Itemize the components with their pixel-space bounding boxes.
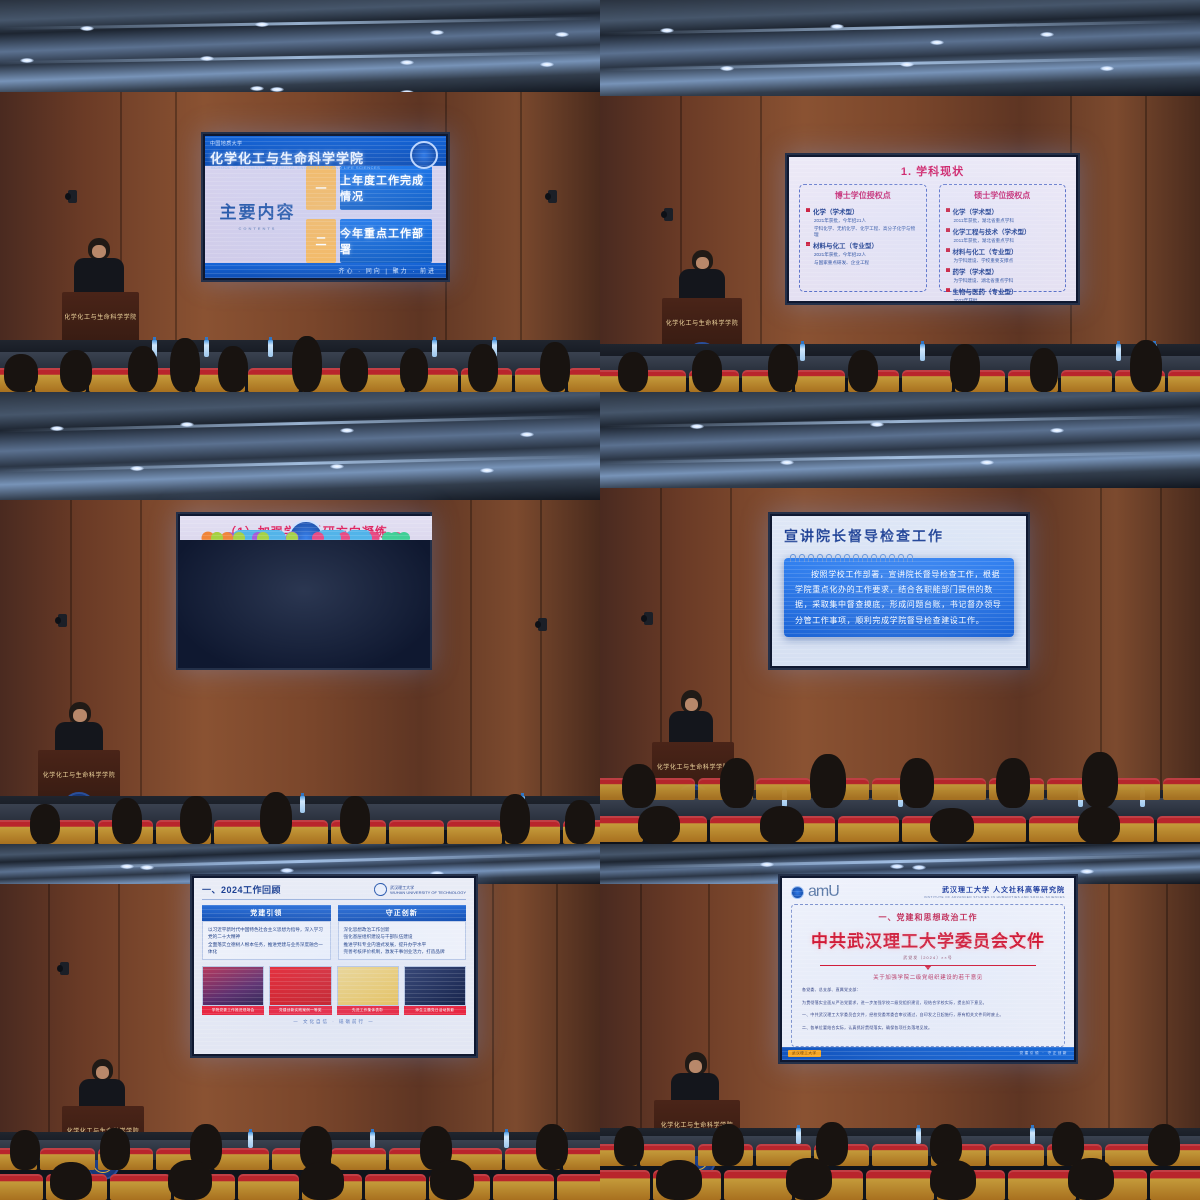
lead-title-text: 主要内容: [219, 203, 295, 222]
item-note: 为学科建设、湖北省重点学科: [954, 278, 1060, 284]
audience-head: [168, 1160, 212, 1200]
photo-thumbnail: [269, 966, 331, 1006]
photo-item: 师生主题党日活动剪影: [404, 966, 466, 1015]
audience-head: [100, 1128, 130, 1170]
photo-caption: 学院党委工作推进现场会: [202, 1006, 264, 1015]
diagram-node: [398, 532, 410, 540]
slide-photo-strip: 学院党委工作推进现场会 党建创新实践案例一等奖 先进工作集体表彰 师生主题党日活…: [202, 966, 466, 1015]
audience-head: [300, 1162, 344, 1200]
item-note: 学科化学、无机化学、化学工程、高分子化学与物理: [814, 226, 920, 238]
water-bottle: [432, 340, 437, 357]
agenda-item: 二 今年重点工作部署: [306, 219, 432, 263]
university-crest-icon: [410, 141, 438, 169]
collage-panel-4: 宣讲院长督导检查工作 按照学校工作部署，宣讲院长督导检查工作，根据学院重点化办的…: [600, 392, 1200, 844]
audience-head: [260, 792, 292, 844]
item-label: 化学（学术型）: [953, 206, 999, 216]
slide-header: 一、2024工作回顾 武汉理工大学 WUHAN UNIVERSITY OF TE…: [202, 883, 466, 900]
audience-head: [622, 764, 656, 808]
document-number: 武党发〔2024〕××号: [802, 955, 1054, 961]
audience-head: [430, 1160, 474, 1200]
item-label: 化学（学术型）: [813, 206, 859, 216]
audience-head: [712, 1124, 744, 1166]
photo-caption: 先进工作集体表彰: [337, 1006, 399, 1015]
box-list-item: 深化思想政治工作创新: [344, 926, 461, 933]
audience-head: [1082, 752, 1118, 808]
audience-head: [50, 1162, 92, 1200]
box-list-item: 以习近平新时代中国特色社会主义思想为指导，深入学习党的二十大精神: [208, 926, 325, 941]
water-bottle: [370, 1132, 375, 1148]
item-note: 与国家重点研发、企业工程: [814, 260, 920, 266]
projection-screen-6: amU 武汉理工大学 人文社科高等研究院 INSTITUTE OF ADVANC…: [778, 874, 1078, 1064]
audience-head: [565, 800, 595, 844]
audience-head: [930, 808, 974, 844]
slide-column-master: 硕士学位授权点 化学（学术型） 2011年获批，湖北省重点学科 化学工程与技术（…: [939, 184, 1067, 292]
agenda-label: 今年重点工作部署: [340, 219, 432, 263]
slide-4: 宣讲院长督导检查工作 按照学校工作部署，宣讲院长督导检查工作，根据学院重点化办的…: [772, 516, 1026, 666]
audience-head: [400, 348, 428, 392]
audience-head: [340, 348, 368, 392]
spotlight-icon: [538, 618, 547, 631]
brand-line-2: INSTITUTE OF ADVANCED STUDIES IN HUMANIT…: [924, 895, 1065, 899]
water-bottle: [800, 344, 805, 361]
collage-panel-2: 1. 学科现状 博士学位授权点 化学（学术型） 2021年获批，今年招21人 学…: [600, 0, 1200, 392]
box-list-item: 完善考核评价机制，激发干事创业活力，打造品牌: [344, 948, 461, 955]
diagram-node: [286, 532, 298, 540]
spotlight-icon: [664, 208, 673, 221]
audience-head: [60, 350, 92, 392]
slide-header-subtitle: SCHOOL OF CHEMISTRY, CHEMICAL ENGINEERIN…: [211, 165, 380, 170]
item-label: 药学（学术型）: [953, 266, 999, 276]
audience-head: [638, 806, 680, 844]
audience-head: [128, 346, 158, 392]
photo-item: 学院党委工作推进现场会: [202, 966, 264, 1015]
audience-head: [614, 1126, 644, 1166]
slide-footer-text: 齐心 · 同向 | 聚力 · 前进: [338, 266, 436, 275]
brand-text: 武汉理工大学 WUHAN UNIVERSITY OF TECHNOLOGY: [390, 885, 466, 895]
item-label: 材料与化工（专业型）: [953, 246, 1018, 256]
spotlight-icon: [68, 190, 77, 203]
collage-panel-5: 一、2024工作回顾 武汉理工大学 WUHAN UNIVERSITY OF TE…: [0, 844, 600, 1200]
brand-block: 武汉理工大学 人文社科高等研究院 INSTITUTE OF ADVANCED S…: [924, 885, 1065, 899]
audience-head: [10, 1130, 40, 1170]
audience-head: [720, 758, 754, 808]
audience-head: [996, 758, 1030, 808]
audience-head: [170, 338, 200, 392]
box-innovation: 守正创新 深化思想政治工作创新 强化基层组织建设与干部队伍建设 推进学科专业内涵…: [338, 905, 467, 960]
document-paragraph: 二、各单位要结合实际，认真抓好贯彻落实，确保各项任务落地见效。: [802, 1024, 1054, 1032]
audience-head: [760, 806, 804, 844]
audience-head: [848, 350, 878, 392]
list-item: 化学（学术型）: [806, 206, 920, 216]
audience-head: [4, 354, 38, 392]
item-note: 2023年获批: [954, 298, 1060, 301]
diagram-node: [233, 532, 245, 540]
photo-caption: 师生主题党日活动剪影: [404, 1006, 466, 1015]
photo-thumbnail: [404, 966, 466, 1006]
slide-header: amU 武汉理工大学 人文社科高等研究院 INSTITUTE OF ADVANC…: [782, 878, 1074, 904]
document-rule: [820, 965, 1036, 966]
slide-boxes: 党建引领 以习近平新时代中国特色社会主义思想为指导，深入学习党的二十大精神 全面…: [202, 905, 466, 960]
audience-head: [500, 794, 530, 844]
lead-subtitle-text: CONTENTS: [219, 226, 295, 231]
list-item: 药学（学术型）: [946, 266, 1060, 276]
audience-head: [30, 804, 60, 844]
item-label: 生物与医药（专业型）: [953, 286, 1018, 296]
audience-head: [618, 352, 648, 392]
audience-seat-row: [600, 370, 1200, 392]
diagram-node: [257, 532, 269, 540]
audience-head: [1030, 348, 1058, 392]
water-bottle: [796, 1128, 801, 1144]
item-note: 2021年获批，今年招22人: [814, 252, 920, 258]
audience-head: [810, 754, 846, 808]
diagram-node: [329, 532, 341, 540]
document-subject: 关于加强学院二级党组织建设的若干意见: [802, 973, 1054, 981]
slide-title: 一、2024工作回顾: [202, 883, 281, 896]
item-note: 为学科建设、学校重要支撑点: [954, 258, 1060, 264]
ceiling: [600, 392, 1200, 488]
box-heading: 守正创新: [338, 905, 467, 921]
diagram-node: [360, 532, 372, 540]
slide-column-doctoral: 博士学位授权点 化学（学术型） 2021年获批，今年招21人 学科化学、无机化学…: [799, 184, 927, 292]
document-paragraph: 各党委、总支部、直属党支部：: [802, 986, 1054, 994]
audience-head: [950, 344, 980, 392]
watermark-text: amU: [808, 883, 839, 901]
item-label: 化学工程与技术（学术型）: [953, 226, 1031, 236]
water-bottle: [920, 344, 925, 361]
photo-caption: 党建创新实践案例一等奖: [269, 1006, 331, 1015]
university-crest-icon: [374, 883, 387, 896]
brand-line-2: WUHAN UNIVERSITY OF TECHNOLOGY: [390, 890, 466, 895]
item-label: 材料与化工（专业型）: [813, 240, 878, 250]
document-section-title: 一、党建和思想政治工作: [802, 912, 1054, 923]
slide-3: （1）加强学院科研方向凝练: [180, 516, 432, 540]
agenda-label: 上年度工作完成情况: [340, 166, 432, 210]
audience-head: [930, 1160, 976, 1200]
diagram-node: [312, 532, 324, 540]
audience-head: [540, 342, 570, 392]
box-body: 深化思想政治工作创新 强化基层组织建设与干部队伍建设 推进学科专业内涵式发展，提…: [338, 921, 467, 960]
footer-right-text: 党建引领 · 守正创新: [1020, 1051, 1068, 1056]
slide-footer-bar: 武汉理工大学 党建引领 · 守正创新: [782, 1047, 1074, 1060]
photo-collage: 中国地质大学 化学化工与生命科学学院 SCHOOL OF CHEMISTRY, …: [0, 0, 1200, 1200]
ceiling: [0, 0, 600, 92]
audience-head: [692, 350, 722, 392]
audience-head: [112, 798, 142, 844]
podium-nameplate: 化学化工与生命科学学院: [665, 315, 739, 329]
agenda-list: 一 上年度工作完成情况 二 今年重点工作部署: [306, 166, 432, 263]
podium-nameplate: 化学化工与生命科学学院: [65, 310, 136, 324]
water-bottle: [504, 1132, 509, 1148]
spotlight-icon: [58, 614, 67, 627]
slide-body-text: 按照学校工作部署，宣讲院长督导检查工作，根据学院重点化办的工作要求，结合各职能部…: [784, 558, 1014, 637]
list-item: 材料与化工（专业型）: [946, 246, 1060, 256]
footer-tag: 武汉理工大学: [788, 1050, 821, 1057]
podium-nameplate: 化学化工与生命科学学院: [655, 760, 730, 774]
agenda-number: 一: [306, 166, 336, 210]
diagram-node: [211, 532, 223, 540]
slide-columns: 博士学位授权点 化学（学术型） 2021年获批，今年招21人 学科化学、无机化学…: [799, 184, 1066, 292]
slide-1: 中国地质大学 化学化工与生命科学学院 SCHOOL OF CHEMISTRY, …: [205, 136, 446, 278]
brand-block: 武汉理工大学 WUHAN UNIVERSITY OF TECHNOLOGY: [374, 883, 466, 896]
projection-screen-1: 中国地质大学 化学化工与生命科学学院 SCHOOL OF CHEMISTRY, …: [201, 132, 450, 282]
item-note: 2011年获批，湖北省重点学科: [954, 218, 1060, 224]
water-bottle: [300, 796, 305, 813]
box-heading: 党建引领: [202, 905, 331, 921]
audience-head: [1130, 340, 1162, 392]
spotlight-icon: [548, 190, 557, 203]
box-list-item: 推进学科专业内涵式发展，提升办学水平: [344, 941, 461, 948]
water-bottle: [248, 1132, 253, 1148]
collage-panel-3: （1）加强学院科研方向凝练: [0, 392, 600, 844]
logo-mark-icon: [791, 886, 804, 899]
slide-footer: 齐心 · 同向 | 聚力 · 前进: [205, 263, 446, 278]
document-paragraph: 一、中共武汉理工大学委员会文件，经校党委常委会审议通过，自印发之日起施行，原有相…: [802, 1011, 1054, 1019]
list-item: 生物与医药（专业型）: [946, 286, 1060, 296]
photo-thumbnail: [202, 966, 264, 1006]
column-heading: 博士学位授权点: [806, 190, 920, 201]
audience-head: [468, 344, 498, 392]
ceiling: [600, 0, 1200, 96]
document-title: 中共武汉理工大学委员会文件: [802, 927, 1054, 952]
box-body: 以习近平新时代中国特色社会主义思想为指导，深入学习党的二十大精神 全面落实立德树…: [202, 921, 331, 960]
slide-body: 主要内容 CONTENTS 一 上年度工作完成情况 二 今年重点工作部署: [205, 166, 446, 263]
photo-item: 党建创新实践案例一等奖: [269, 966, 331, 1015]
collage-panel-6: amU 武汉理工大学 人文社科高等研究院 INSTITUTE OF ADVANC…: [600, 844, 1200, 1200]
audience-head: [768, 344, 798, 392]
column-heading: 硕士学位授权点: [946, 190, 1060, 201]
slide-5: 一、2024工作回顾 武汉理工大学 WUHAN UNIVERSITY OF TE…: [194, 878, 474, 1054]
document-body: 一、党建和思想政治工作 中共武汉理工大学委员会文件 武党发〔2024〕××号 关…: [791, 904, 1065, 1047]
water-bottle: [1116, 344, 1121, 361]
slide-logo-text: 中国地质大学: [210, 140, 242, 147]
audience-head: [900, 758, 934, 808]
diagram-node: [382, 532, 394, 540]
box-list-item: 全面落实立德树人根本任务，推进党建与业务深度融合一体化: [208, 941, 325, 956]
list-item: 化学工程与技术（学术型）: [946, 226, 1060, 236]
podium-nameplate: 化学化工与生命科学学院: [41, 767, 116, 781]
photo-thumbnail: [337, 966, 399, 1006]
audience-head: [180, 796, 212, 844]
list-item: 化学（学术型）: [946, 206, 1060, 216]
agenda-item: 一 上年度工作完成情况: [306, 166, 432, 210]
item-note: 2021年获批，今年招21人: [814, 218, 920, 224]
ceiling: [0, 392, 600, 500]
audience-head: [340, 796, 370, 844]
audience-head: [656, 1160, 702, 1200]
list-item: 材料与化工（专业型）: [806, 240, 920, 250]
audience-head: [1078, 806, 1120, 844]
spotlight-icon: [644, 612, 653, 625]
watermark-logo: amU: [791, 883, 839, 901]
photo-item: 先进工作集体表彰: [337, 966, 399, 1015]
box-party-building: 党建引领 以习近平新时代中国特色社会主义思想为指导，深入学习党的二十大精神 全面…: [202, 905, 331, 960]
water-bottle: [916, 1128, 921, 1144]
spotlight-icon: [60, 962, 69, 975]
audience-head: [536, 1124, 568, 1170]
projection-screen-3: （1）加强学院科研方向凝练: [176, 512, 432, 670]
slide-footer-text: 一 文化自信 · 砥砺前行 一: [202, 1019, 466, 1025]
slide-lead-title: 主要内容 CONTENTS: [219, 198, 295, 231]
audience-head: [786, 1158, 832, 1200]
water-bottle: [268, 340, 273, 357]
projection-screen-2: 1. 学科现状 博士学位授权点 化学（学术型） 2021年获批，今年招21人 学…: [785, 153, 1080, 305]
collage-panel-1: 中国地质大学 化学化工与生命科学学院 SCHOOL OF CHEMISTRY, …: [0, 0, 600, 392]
water-bottle: [1030, 1128, 1035, 1144]
audience-head: [218, 346, 248, 392]
box-list-item: 强化基层组织建设与干部队伍建设: [344, 933, 461, 940]
slide-header: 中国地质大学 化学化工与生命科学学院 SCHOOL OF CHEMISTRY, …: [205, 136, 446, 166]
brand-line-1: 武汉理工大学 人文社科高等研究院: [924, 885, 1065, 895]
projection-screen-5: 一、2024工作回顾 武汉理工大学 WUHAN UNIVERSITY OF TE…: [190, 874, 478, 1058]
slide-title: 宣讲院长督导检查工作: [784, 526, 1014, 546]
water-bottle: [204, 340, 209, 357]
slide-2: 1. 学科现状 博士学位授权点 化学（学术型） 2021年获批，今年招21人 学…: [789, 157, 1076, 301]
document-paragraph: 为贯彻落实全面从严治党要求，进一步加强学校二级党组织建设，现结合学校实际，提出如…: [802, 999, 1054, 1007]
audience-head: [1068, 1158, 1114, 1200]
audience-head: [1148, 1124, 1180, 1166]
item-note: 2011年获批，湖北省重点学科: [954, 238, 1060, 244]
slide-title: 1. 学科现状: [799, 163, 1066, 179]
projection-screen-4: 宣讲院长督导检查工作 按照学校工作部署，宣讲院长督导检查工作，根据学院重点化办的…: [768, 512, 1030, 670]
slide-6: amU 武汉理工大学 人文社科高等研究院 INSTITUTE OF ADVANC…: [782, 878, 1074, 1060]
agenda-number: 二: [306, 219, 336, 263]
audience-head: [292, 336, 322, 392]
